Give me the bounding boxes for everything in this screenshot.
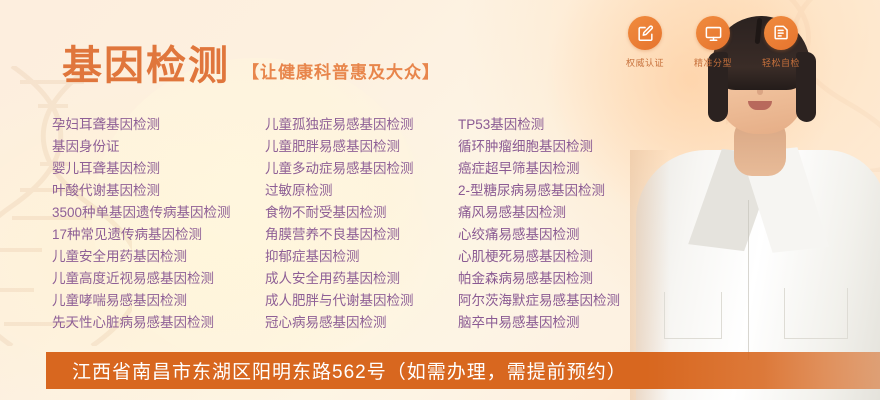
list-item[interactable]: 心肌梗死易感基因检测 [458,246,672,268]
list-item[interactable]: 叶酸代谢基因检测 [52,180,265,202]
list-item[interactable]: 2-型糖尿病易感基因检测 [458,180,672,202]
list-item[interactable]: 儿童哮喘易感基因检测 [52,290,265,312]
list-item[interactable]: 17种常见遗传病基因检测 [52,224,265,246]
page-subtitle: 【让健康科普惠及大众】 [242,58,440,83]
list-item[interactable]: 冠心病易感基因检测 [265,312,458,334]
eye-left [734,72,747,78]
feature-label: 精准分型 [694,56,732,69]
nose [757,84,763,95]
mouth [748,101,772,110]
address-bar: 江西省南昌市东湖区阳明东路562号（如需办理，需提前预约） [46,352,880,389]
list-item[interactable]: 食物不耐受基因检测 [265,202,458,224]
eye-right [775,72,788,78]
feature-easy-self-check[interactable]: 轻松自检 [754,16,808,69]
feature-precise-typing[interactable]: 精准分型 [686,16,740,69]
list-item[interactable]: 阿尔茨海默症易感基因检测 [458,290,672,312]
list-item[interactable]: 3500种单基因遗传病基因检测 [52,202,265,224]
feature-badges: 权威认证 精准分型 轻松自检 [618,16,808,69]
collar-right [741,147,829,253]
service-column-2: 儿童孤独症易感基因检测 儿童肥胖易感基因检测 儿童多动症易感基因检测 过敏原检测… [265,114,458,334]
list-item[interactable]: 孕妇耳聋基因检测 [52,114,265,136]
list-item[interactable]: 脑卒中易感基因检测 [458,312,672,334]
list-item[interactable]: 儿童安全用药基因检测 [52,246,265,268]
list-item[interactable]: 儿童多动症易感基因检测 [265,158,458,180]
address-text: 江西省南昌市东湖区阳明东路562号（如需办理，需提前预约） [72,357,627,384]
feature-authority-certification[interactable]: 权威认证 [618,16,672,69]
list-item[interactable]: 抑郁症基因检测 [265,246,458,268]
title-block: 基因检测 【让健康科普惠及大众】 [62,46,440,86]
collar-left [688,149,778,251]
list-item[interactable]: 心绞痛易感基因检测 [458,224,672,246]
list-item[interactable]: 婴儿耳聋基因检测 [52,158,265,180]
list-item[interactable]: 成人安全用药基因检测 [265,268,458,290]
coat-pocket-left [664,292,722,339]
list-item[interactable]: TP53基因检测 [458,114,672,136]
service-column-1: 孕妇耳聋基因检测 基因身份证 婴儿耳聋基因检测 叶酸代谢基因检测 3500种单基… [52,114,265,334]
monitor-screen-icon [696,16,730,50]
list-item[interactable]: 过敏原检测 [265,180,458,202]
list-item[interactable]: 儿童肥胖易感基因检测 [265,136,458,158]
service-list: 孕妇耳聋基因检测 基因身份证 婴儿耳聋基因检测 叶酸代谢基因检测 3500种单基… [52,114,672,334]
report-file-icon [764,16,798,50]
list-item[interactable]: 循环肿瘤细胞基因检测 [458,136,672,158]
page-title: 基因检测 [62,46,230,86]
service-column-3: TP53基因检测 循环肿瘤细胞基因检测 癌症超早筛基因检测 2-型糖尿病易感基因… [458,114,672,334]
edit-document-icon [628,16,662,50]
list-item[interactable]: 成人肥胖与代谢基因检测 [265,290,458,312]
list-item[interactable]: 癌症超早筛基因检测 [458,158,672,180]
list-item[interactable]: 角膜营养不良基因检测 [265,224,458,246]
list-item[interactable]: 儿童孤独症易感基因检测 [265,114,458,136]
list-item[interactable]: 痛风易感基因检测 [458,202,672,224]
list-item[interactable]: 先天性心脏病易感基因检测 [52,312,265,334]
gene-testing-promo-banner: 基因检测 【让健康科普惠及大众】 权威认证 精准分型 [0,0,880,400]
coat-seam [748,200,749,360]
list-item[interactable]: 基因身份证 [52,136,265,158]
feature-label: 权威认证 [626,56,664,69]
list-item[interactable]: 儿童高度近视易感基因检测 [52,268,265,290]
list-item[interactable]: 帕金森病易感基因检测 [458,268,672,290]
neck [734,118,786,176]
coat-pocket-right [784,288,848,339]
feature-label: 轻松自检 [762,56,800,69]
